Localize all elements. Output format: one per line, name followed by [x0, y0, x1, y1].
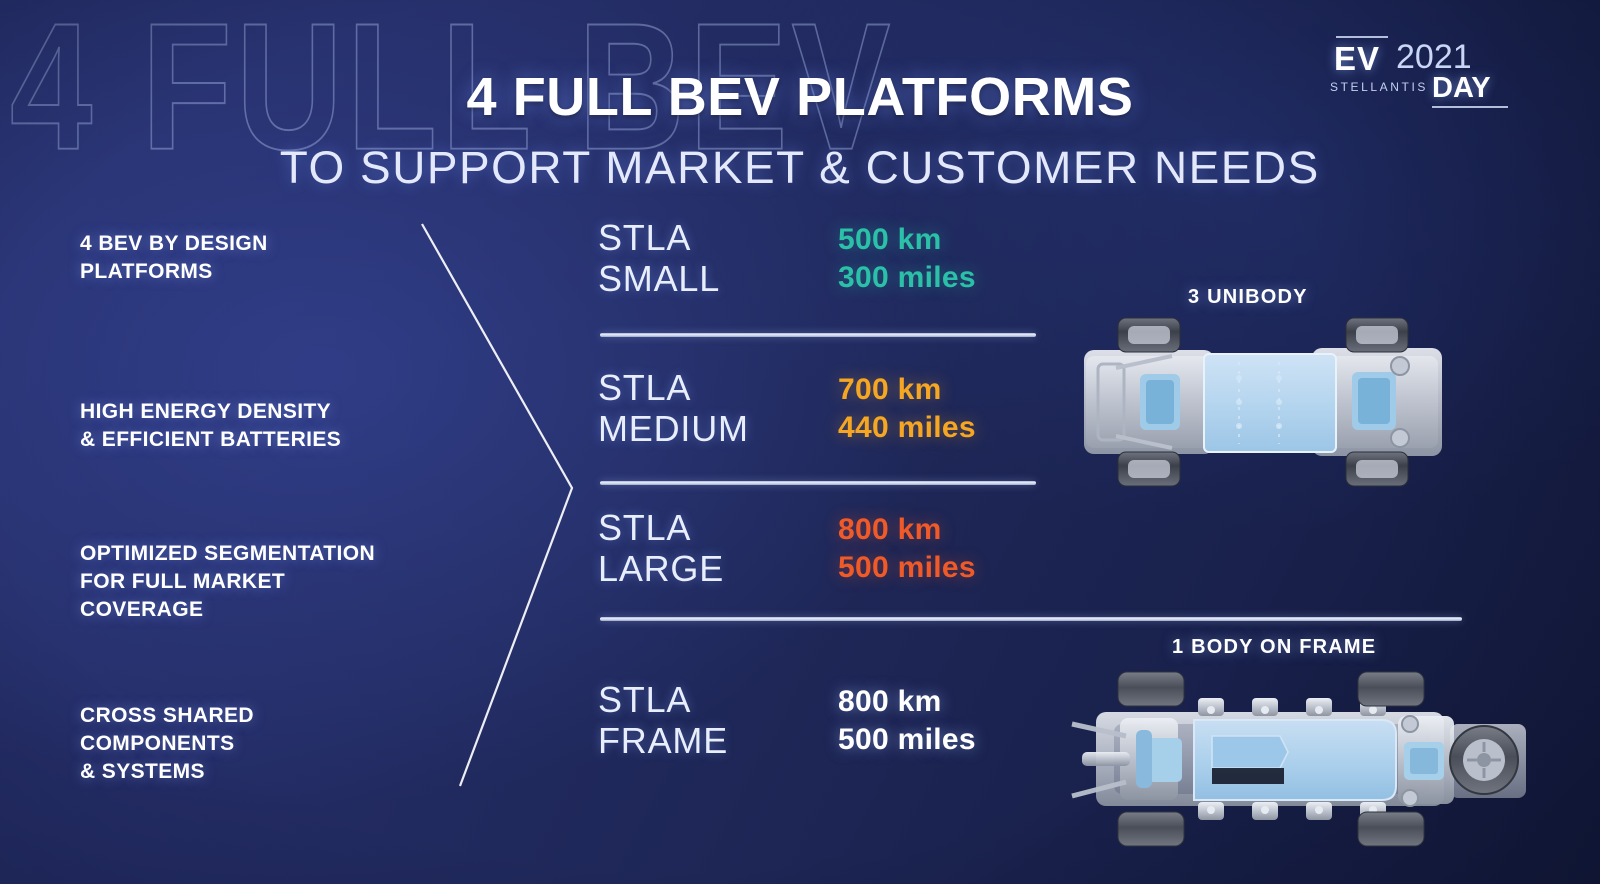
row-divider	[600, 333, 1036, 337]
range-km: 800 km	[838, 511, 976, 549]
table-row: STLA SMALL 500 km 300 miles	[598, 218, 1058, 314]
range-miles: 300 miles	[838, 259, 976, 297]
platform-name: STLA LARGE	[598, 508, 724, 589]
table-row: STLA MEDIUM 700 km 440 miles	[598, 368, 1058, 464]
ev-day-logo: EV 2021 STELLANTIS DAY	[1328, 34, 1508, 114]
range-km: 700 km	[838, 371, 976, 409]
list-item: CROSS SHARED COMPONENTS & SYSTEMS	[80, 702, 254, 786]
platform-name-line: STLA	[598, 508, 724, 549]
platform-name-line: FRAME	[598, 721, 728, 762]
platform-name: STLA FRAME	[598, 680, 728, 761]
bullet-line: OPTIMIZED SEGMENTATION	[80, 540, 375, 568]
bullet-line: & SYSTEMS	[80, 758, 254, 786]
platform-range: 500 km 300 miles	[838, 221, 976, 296]
bullet-line: COMPONENTS	[80, 730, 254, 758]
list-item: OPTIMIZED SEGMENTATION FOR FULL MARKET C…	[80, 540, 375, 624]
logo-brand-text: STELLANTIS	[1330, 80, 1428, 94]
page-subtitle: TO SUPPORT MARKET & CUSTOMER NEEDS	[0, 142, 1600, 194]
platform-name: STLA MEDIUM	[598, 368, 749, 449]
logo-top-rule	[1336, 36, 1388, 38]
list-item: HIGH ENERGY DENSITY & EFFICIENT BATTERIE…	[80, 398, 341, 454]
platform-name-line: STLA	[598, 368, 749, 409]
logo-bottom-rule	[1432, 106, 1508, 108]
range-miles: 500 miles	[838, 721, 976, 759]
platform-name: STLA SMALL	[598, 218, 720, 299]
row-divider	[600, 481, 1036, 485]
bullet-line: PLATFORMS	[80, 258, 268, 286]
platform-name-line: STLA	[598, 218, 720, 259]
body-on-frame-caption: 1 BODY ON FRAME	[1172, 636, 1376, 659]
bullet-line: & EFFICIENT BATTERIES	[80, 426, 341, 454]
platform-range: 700 km 440 miles	[838, 371, 976, 446]
body-on-frame-chassis-illustration	[1052, 668, 1530, 850]
range-miles: 440 miles	[838, 409, 976, 447]
unibody-caption: 3 UNIBODY	[1188, 286, 1308, 309]
platform-range: 800 km 500 miles	[838, 683, 976, 758]
range-km: 500 km	[838, 221, 976, 259]
table-row: STLA LARGE 800 km 500 miles	[598, 508, 1058, 604]
list-item: 4 BEV BY DESIGN PLATFORMS	[80, 230, 268, 286]
logo-ev-text: EV	[1334, 40, 1380, 78]
table-row: STLA FRAME 800 km 500 miles	[598, 680, 1058, 776]
bullet-line: CROSS SHARED	[80, 702, 254, 730]
bullet-line: COVERAGE	[80, 596, 375, 624]
chevron-bracket-icon	[420, 220, 600, 790]
range-km: 800 km	[838, 683, 976, 721]
bullet-line: FOR FULL MARKET	[80, 568, 375, 596]
platform-name-line: SMALL	[598, 259, 720, 300]
logo-day-text: DAY	[1432, 72, 1491, 105]
page-title-text: 4 FULL BEV PLATFORMS	[466, 66, 1133, 128]
slide-canvas: 4 FULL BEV 4 FULL BEV PLATFORMS TO SUPPO…	[0, 0, 1600, 884]
bullet-line: 4 BEV BY DESIGN	[80, 230, 268, 258]
platform-name-line: MEDIUM	[598, 409, 749, 450]
platform-name-line: STLA	[598, 680, 728, 721]
unibody-chassis-illustration	[1064, 312, 1460, 490]
row-divider	[600, 617, 1462, 621]
platform-range: 800 km 500 miles	[838, 511, 976, 586]
page-subtitle-text: TO SUPPORT MARKET & CUSTOMER NEEDS	[280, 142, 1320, 194]
bullet-line: HIGH ENERGY DENSITY	[80, 398, 341, 426]
platform-name-line: LARGE	[598, 549, 724, 590]
range-miles: 500 miles	[838, 549, 976, 587]
